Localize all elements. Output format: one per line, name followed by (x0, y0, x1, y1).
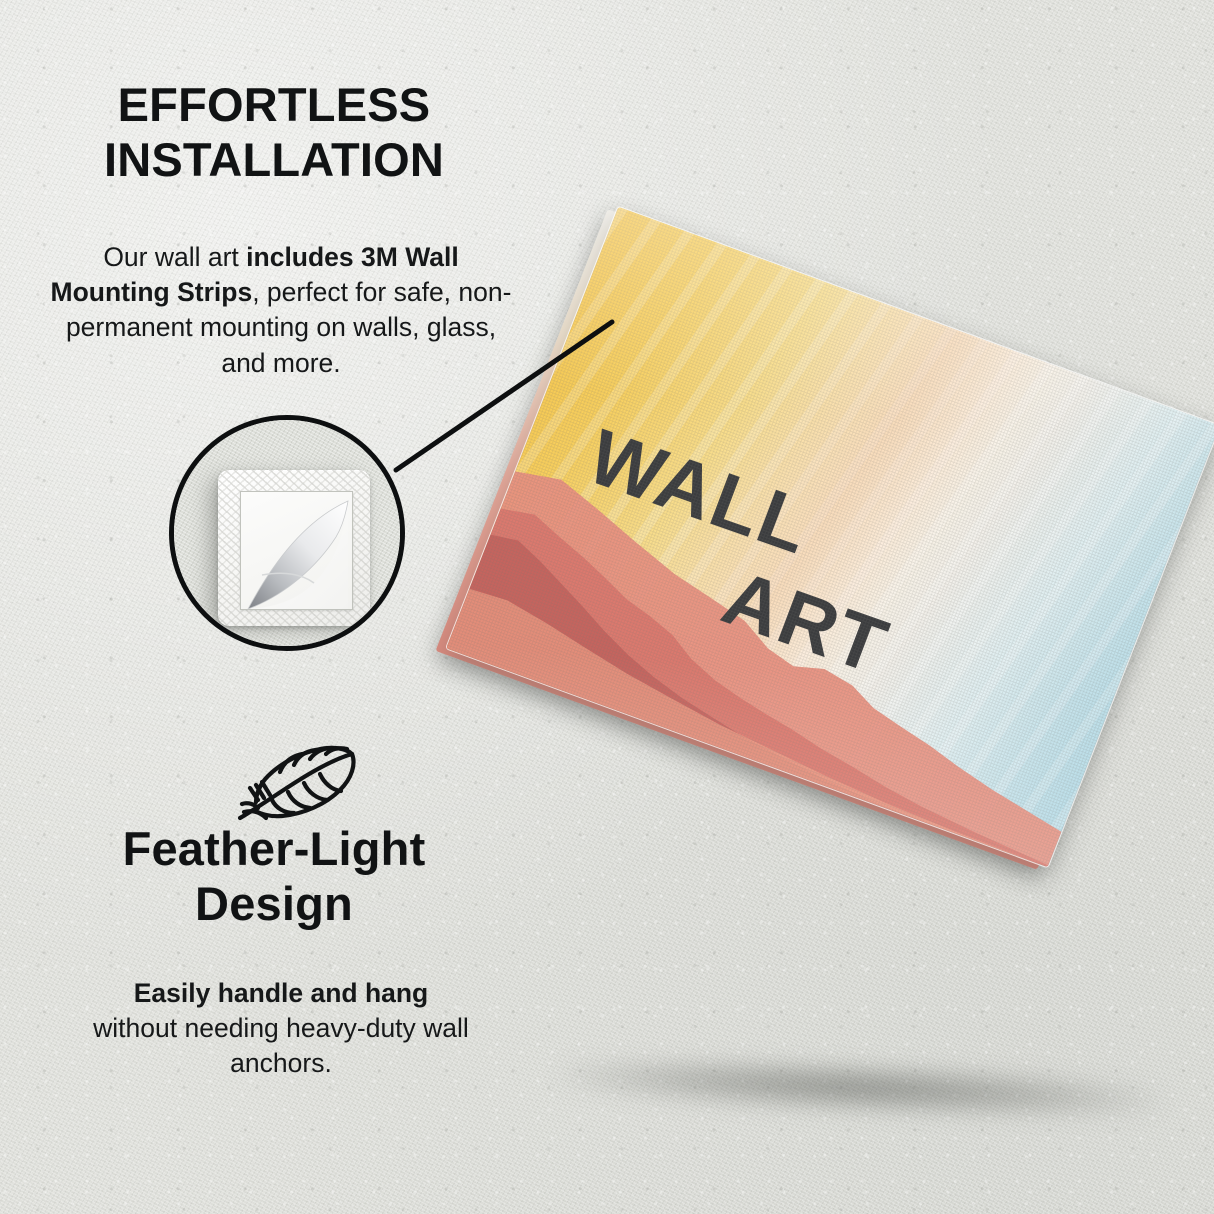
subhead-line-2: Design (64, 877, 484, 932)
adhesive-mounting-strip (218, 470, 370, 626)
install-description: Our wall art includes 3M Wall Mounting S… (46, 240, 516, 381)
peel-corner-icon (240, 491, 353, 610)
headline-line-2: INSTALLATION (64, 133, 484, 188)
mounting-strip-callout-circle (169, 415, 405, 651)
section-title-feather-light: Feather-Light Design (64, 822, 484, 931)
feather-text-line-1: without needing heavy-duty (93, 1013, 416, 1043)
promo-graphic: WALL ART EFFORTLESS INSTALLATION Our wal… (0, 0, 1214, 1214)
feather-text-bold: Easily handle and hang (46, 976, 516, 1011)
feather-light-description: Easily handle and hang without needing h… (46, 976, 516, 1082)
headline-line-1: EFFORTLESS (118, 78, 431, 131)
feather-icon (228, 738, 364, 824)
page-title: EFFORTLESS INSTALLATION (64, 78, 484, 187)
subhead-line-1: Feather-Light (123, 822, 426, 875)
install-text-part-1: Our wall art (103, 242, 246, 272)
